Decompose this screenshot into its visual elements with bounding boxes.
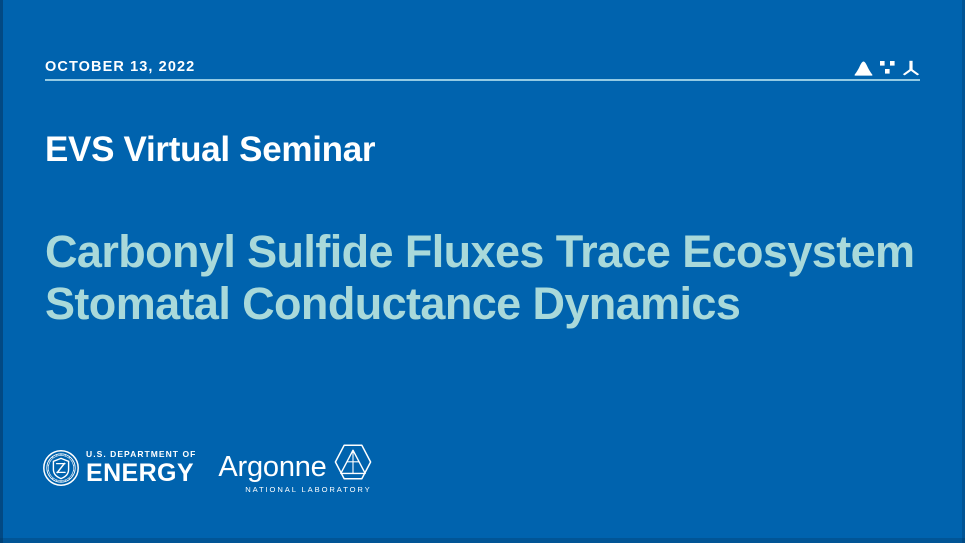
slide-date: OCTOBER 13, 2022 xyxy=(45,58,195,76)
tripod-mark-icon xyxy=(902,60,920,76)
doe-department-line: U.S. DEPARTMENT OF xyxy=(86,450,196,459)
header-divider-rule xyxy=(45,79,920,81)
argonne-wordmark-row: Argonne xyxy=(218,443,373,482)
doe-wordmark: U.S. DEPARTMENT OF ENERGY xyxy=(86,450,196,486)
slide-header: OCTOBER 13, 2022 xyxy=(45,58,920,90)
logo-row: U.S. DEPARTMENT OF ENERGY Argonne NATION… xyxy=(43,442,374,494)
slide-eyebrow-heading: EVS Virtual Seminar xyxy=(45,128,375,172)
doe-logo: U.S. DEPARTMENT OF ENERGY xyxy=(43,450,196,486)
argonne-hexagon-mark-icon xyxy=(332,443,374,482)
doe-seal-icon xyxy=(43,450,79,486)
presentation-title-slide: OCTOBER 13, 2022 xyxy=(0,0,965,543)
doe-energy-line: ENERGY xyxy=(86,461,196,486)
argonne-logo: Argonne NATIONAL LABORATORY xyxy=(218,445,373,491)
header-decorative-marks xyxy=(854,58,920,78)
argonne-subtitle: NATIONAL LABORATORY xyxy=(218,485,373,494)
argonne-wordmark: Argonne xyxy=(218,452,326,482)
triangle-mark-icon xyxy=(854,61,873,76)
slide-main-title: Carbonyl Sulfide Fluxes Trace Ecosystem … xyxy=(45,226,915,330)
dots-mark-icon xyxy=(879,60,896,76)
